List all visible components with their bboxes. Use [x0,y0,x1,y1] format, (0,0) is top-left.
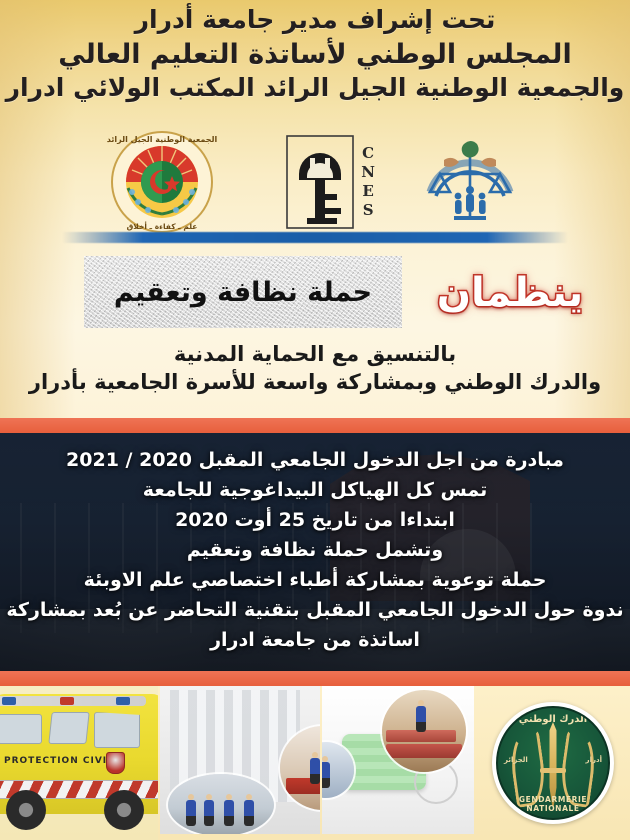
header-line-3: والجمعية الوطنية الجيل الرائد المكتب الو… [0,72,630,105]
organizers-label: ينظمان [437,270,583,316]
poster-header: تحت إشراف مدير جامعة أدرار المجلس الوطني… [0,4,630,104]
subtitle-line-2: والدرك الوطني وبمشاركة واسعة للأسرة الجا… [0,368,630,396]
campaign-title-row: ينظمان حملة نظافة وتعقيم [0,252,630,332]
details-text: مبادرة من اجل الدخول الجامعي المقبل 2020… [0,445,630,655]
detail-line-3: ابتداءا من تاريخ 25 أوت 2020 [0,505,630,535]
cnes-logo: C N E S [258,132,376,232]
svg-text:الجمعية الوطنية الجيل الرائد: الجمعية الوطنية الجيل الرائد [107,135,218,144]
ambulance-windshield [94,712,140,748]
campaign-title: حملة نظافة وتعقيم [114,277,372,308]
cnes-letters: C N E S [361,144,376,221]
ambulance-window-mid [48,712,89,744]
poster-subtitle: بالتنسيق مع الحماية المدنية والدرك الوطن… [0,340,630,397]
detail-line-5: حملة توعوية بمشاركة أطباء اختصاصي علم ال… [0,565,630,595]
orange-divider-top [0,418,630,433]
ambulance-badge-icon [106,752,125,774]
organizers-label-wrap: ينظمان [420,258,600,328]
cleaning-workers-photo [160,686,320,834]
header-line-2: المجلس الوطني لأساتذة التعليم العالي [0,37,630,72]
lecture-bench-front [386,744,462,758]
detail-line-2: تمس كل الهياكل البيداغوجية للجامعة [0,475,630,505]
cleaning-crew-inset [168,774,274,834]
ambulance-roof-lights [0,696,146,706]
gendarmerie-side-left: الجزائر [504,756,528,764]
detail-line-4: وتشمل حملة نظافة وتعقيم [0,535,630,565]
national-council-emblem-icon [416,130,524,234]
detail-line-6: ندوة حول الدخول الجامعي المقبل بتقنية ال… [0,595,630,625]
orange-divider-bottom [0,671,630,686]
detail-line-7: اساتذة من جامعة ادرار [0,625,630,655]
gendarmerie-seal-inner: الدرك الوطني الجزائر أدرار GENDARMERIE N… [496,706,610,820]
detail-line-1: مبادرة من اجل الدخول الجامعي المقبل 2020… [0,445,630,475]
jil-raid-association-seal-icon: الجمعية الوطنية الجيل الرائد علم ـ كفاءة… [106,130,218,234]
protection-civile-ambulance-photo: PROTECTION CIVILE [0,686,158,840]
ambulance-wheel-front [104,790,144,830]
sword-guard-icon [540,768,566,773]
campaign-title-plate: حملة نظافة وتعقيم [84,256,402,328]
footer-media-strip: PROTECTION CIVILE [0,686,630,840]
details-section: مبادرة من اجل الدخول الجامعي المقبل 2020… [0,433,630,671]
ambulance-window-rear [0,714,42,744]
subtitle-line-1: بالتنسيق مع الحماية المدنية [0,340,630,368]
poster-root: تحت إشراف مدير جامعة أدرار المجلس الوطني… [0,0,630,840]
lecture-hall-inset [382,690,466,772]
ambulance-wheel-rear [6,790,46,830]
cnes-letter-e: E [361,182,376,201]
blue-divider-bar [62,232,568,243]
gendarmerie-french-text: GENDARMERIE NATIONALE [498,795,608,813]
cnes-letter-n: N [361,163,376,182]
header-line-1: تحت إشراف مدير جامعة أدرار [0,4,630,37]
cnes-letter-c: C [361,144,376,163]
face-mask-photo [322,686,474,834]
sword-icon [550,722,557,806]
cnes-key-icon [285,134,355,230]
cnes-letter-s: S [361,201,376,220]
gendarmerie-side-right: أدرار [586,756,602,764]
logo-row: C N E S [0,128,630,236]
gendarmerie-seal-outer: الدرك الوطني الجزائر أدرار GENDARMERIE N… [492,702,614,824]
svg-text:علم ـ كفاءة ـ أخلاق: علم ـ كفاءة ـ أخلاق [127,221,198,231]
gendarmerie-nationale-emblem: الدرك الوطني الجزائر أدرار GENDARMERIE N… [476,686,630,840]
